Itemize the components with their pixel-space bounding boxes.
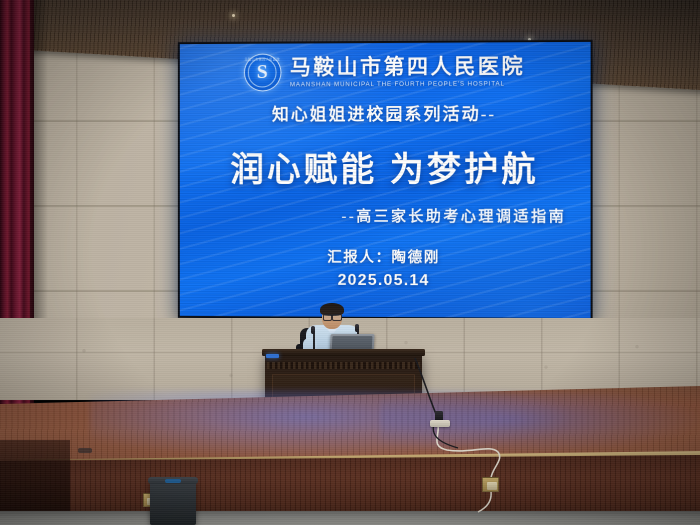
auditorium-scene: 马鞍山市第四人民医院 S 马鞍山市第四人民医院 MAANSHAN MUNICIP… [0, 0, 700, 525]
led-scanlines [180, 42, 591, 318]
ceiling-light-dot [232, 14, 235, 17]
trash-bin-slot [165, 479, 181, 483]
power-adapter [430, 420, 450, 427]
led-screen-surface: 马鞍山市第四人民医院 S 马鞍山市第四人民医院 MAANSHAN MUNICIP… [180, 42, 591, 318]
podium-top-edge [262, 349, 425, 356]
floor-outlet-right[interactable] [482, 477, 499, 492]
podium-decorative-band [267, 362, 420, 369]
auditorium-floor [0, 511, 700, 525]
microphone-head-right [355, 324, 359, 332]
stage-front-panel-grain [0, 455, 700, 517]
podium-indicator-light [266, 354, 279, 358]
trash-bin[interactable]: ▫ [150, 480, 196, 525]
microphone-head-left [311, 326, 315, 334]
stage-floor-debris [78, 448, 92, 453]
speaker-glasses [323, 314, 342, 319]
led-screen[interactable]: 马鞍山市第四人民医院 S 马鞍山市第四人民医院 MAANSHAN MUNICIP… [178, 40, 593, 320]
